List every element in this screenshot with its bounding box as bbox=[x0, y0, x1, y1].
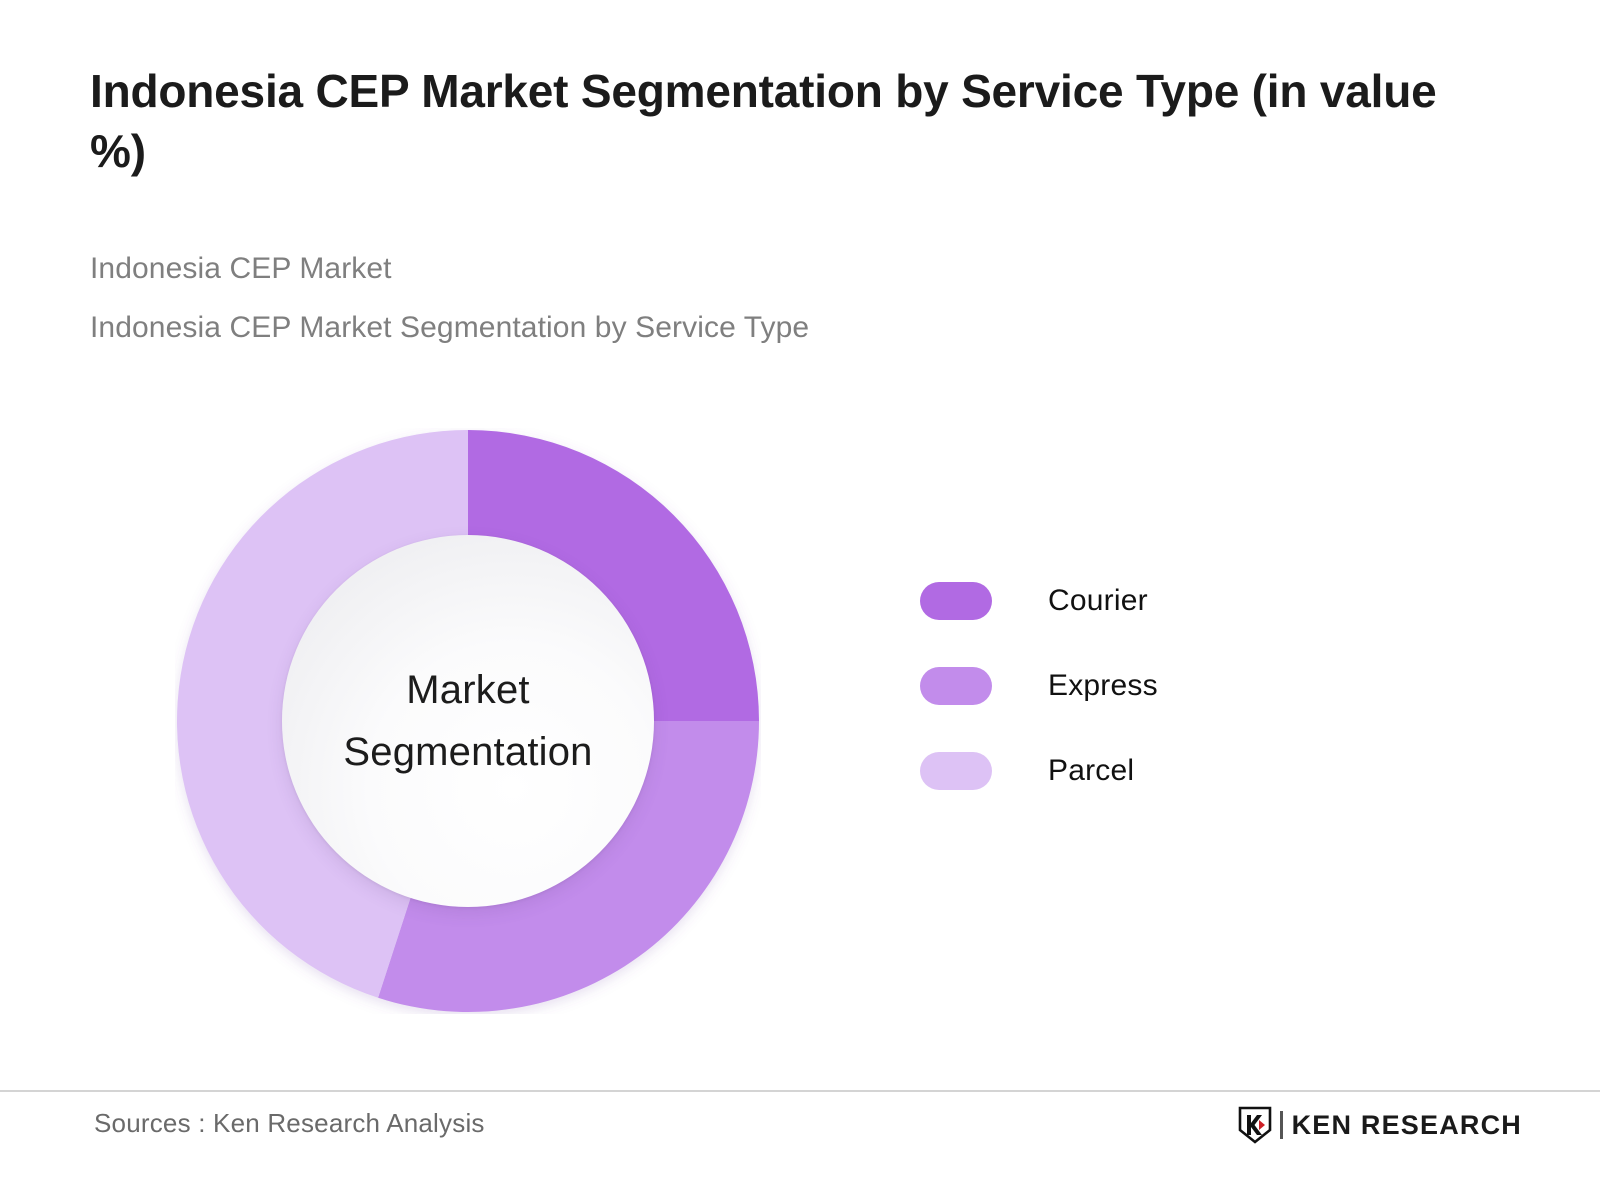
legend-item-express[interactable]: Express bbox=[920, 643, 1340, 728]
footer-divider bbox=[0, 1090, 1600, 1092]
legend-swatch-express bbox=[920, 667, 992, 705]
logo-wordmark: KEN RESEARCH bbox=[1292, 1110, 1522, 1141]
logo-divider bbox=[1280, 1111, 1283, 1139]
subtitle-market: Indonesia CEP Market bbox=[90, 252, 392, 286]
legend-label-express: Express bbox=[1048, 669, 1158, 703]
sources-note: Sources : Ken Research Analysis bbox=[94, 1108, 485, 1139]
donut-center-hub: Market Segmentation bbox=[282, 535, 654, 907]
legend-swatch-courier bbox=[920, 582, 992, 620]
legend-label-courier: Courier bbox=[1048, 584, 1148, 618]
legend-item-courier[interactable]: Courier bbox=[920, 558, 1340, 643]
legend-label-parcel: Parcel bbox=[1048, 754, 1134, 788]
page-title: Indonesia CEP Market Segmentation by Ser… bbox=[90, 62, 1490, 182]
subtitle-segmentation: Indonesia CEP Market Segmentation by Ser… bbox=[90, 311, 809, 345]
chart-area: Market Segmentation Courier Express Parc… bbox=[0, 380, 1600, 1060]
shield-k-icon bbox=[1238, 1106, 1272, 1144]
donut-chart: Market Segmentation bbox=[175, 428, 761, 1014]
legend-swatch-parcel bbox=[920, 752, 992, 790]
chart-legend: Courier Express Parcel bbox=[920, 558, 1340, 813]
center-label-line-1: Market bbox=[406, 659, 529, 721]
legend-item-parcel[interactable]: Parcel bbox=[920, 728, 1340, 813]
slide-canvas: Indonesia CEP Market Segmentation by Ser… bbox=[0, 0, 1600, 1200]
center-label-line-2: Segmentation bbox=[343, 721, 592, 783]
ken-research-logo: KEN RESEARCH bbox=[1238, 1104, 1522, 1146]
